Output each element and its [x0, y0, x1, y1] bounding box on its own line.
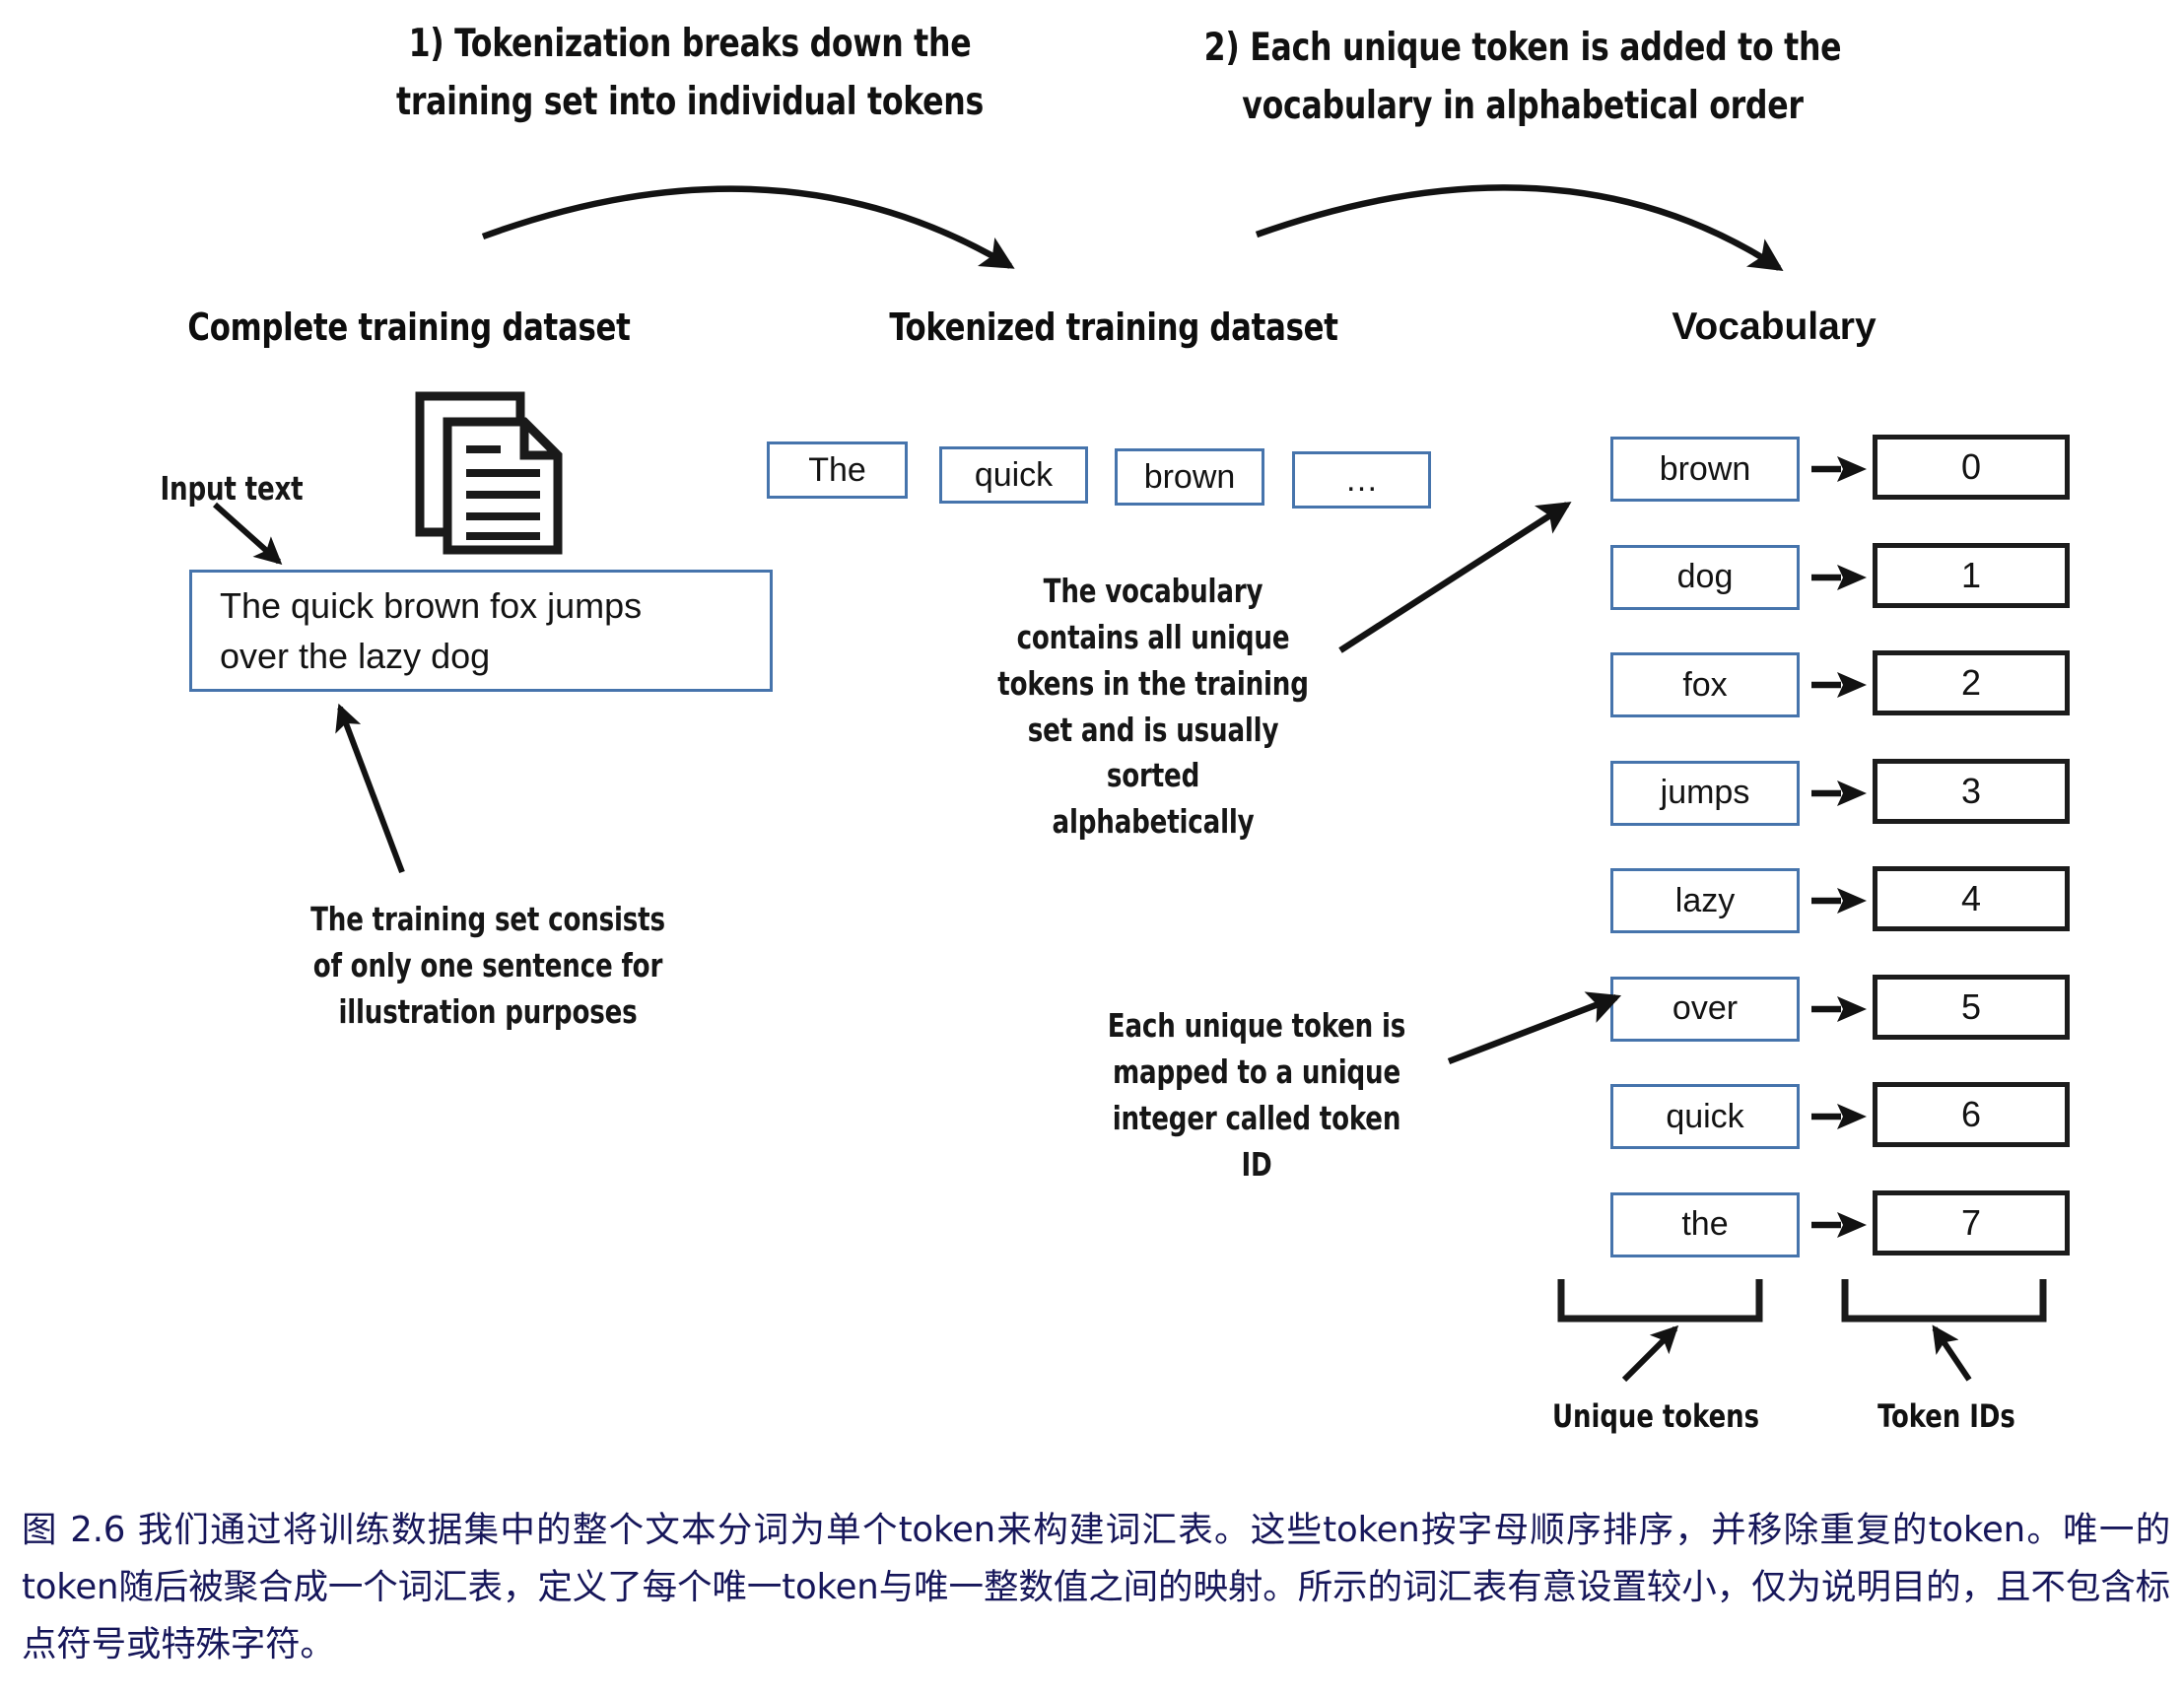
vocab-token-box: lazy	[1610, 868, 1800, 933]
token-to-id-arrow	[1808, 1099, 1867, 1134]
vocabulary-note: The vocabulary contains all unique token…	[976, 569, 1331, 846]
token-to-id-arrow	[1808, 776, 1867, 811]
token-id-box: 1	[1873, 543, 2070, 608]
token-to-id-arrow	[1808, 1207, 1867, 1243]
step-heading-1: 1) Tokenization breaks down the training…	[362, 16, 1018, 131]
section-heading-vocabulary: Vocabulary	[1547, 305, 2001, 349]
token-box-3: …	[1292, 451, 1431, 509]
token-label: quick	[975, 456, 1053, 495]
input-text-line-1: The quick brown fox jumps	[220, 580, 770, 631]
connector-overlay	[0, 0, 2184, 1697]
token-to-id-arrow	[1808, 667, 1867, 703]
token-id-box: 3	[1873, 759, 2070, 824]
vocab-token-box: fox	[1610, 652, 1800, 717]
token-id-note: Each unique token is mapped to a unique …	[1096, 1003, 1417, 1188]
token-id-label: 7	[1961, 1202, 1981, 1244]
token-id-box: 2	[1873, 650, 2070, 715]
vocab-token-box: dog	[1610, 545, 1800, 610]
vocab-token-label: over	[1672, 989, 1738, 1028]
section-heading-tokenized-training-dataset: Tokenized training dataset	[830, 305, 1398, 349]
token-label: …	[1345, 461, 1379, 500]
bracket-token-ids	[1845, 1279, 2043, 1319]
vocab-token-label: lazy	[1675, 882, 1735, 920]
arrow-to-unique-tokens-bracket	[1624, 1328, 1675, 1380]
token-id-label: 2	[1961, 662, 1981, 704]
token-id-label: 5	[1961, 986, 1981, 1028]
token-box-2: brown	[1115, 448, 1264, 506]
token-id-box: 5	[1873, 975, 2070, 1040]
token-box-1: quick	[939, 446, 1088, 504]
training-set-note: The training set consists of only one se…	[271, 897, 705, 1036]
vocab-token-label: quick	[1666, 1098, 1743, 1136]
vocab-token-box: jumps	[1610, 761, 1800, 826]
vocab-token-label: fox	[1682, 666, 1727, 705]
vocab-token-label: dog	[1677, 558, 1734, 596]
figure-caption: 图 2.6 我们通过将训练数据集中的整个文本分词为单个token来构建词汇表。这…	[22, 1502, 2170, 1673]
vocab-token-label: the	[1681, 1205, 1728, 1244]
token-to-id-arrow	[1808, 560, 1867, 595]
token-id-box: 7	[1873, 1190, 2070, 1256]
curved-arrow-tokenization	[483, 189, 1010, 266]
input-text-box: The quick brown fox jumps over the lazy …	[189, 570, 773, 692]
document-stack-icon	[414, 390, 572, 558]
arrow-vocab-note-to-brown	[1340, 505, 1567, 650]
token-ids-label: Token IDs	[1809, 1397, 2084, 1435]
section-heading-complete-training-dataset: Complete training dataset	[125, 305, 693, 349]
token-id-label: 6	[1961, 1094, 1981, 1135]
curved-arrow-vocabulary	[1257, 187, 1779, 268]
arrow-to-token-ids-bracket	[1935, 1328, 1969, 1380]
figure-root: 1) Tokenization breaks down the training…	[0, 0, 2184, 1697]
vocab-token-box: quick	[1610, 1084, 1800, 1149]
token-id-box: 6	[1873, 1082, 2070, 1147]
arrow-input-label-to-box	[215, 505, 279, 562]
token-to-id-arrow	[1808, 451, 1867, 487]
token-label: brown	[1144, 458, 1236, 497]
vocab-token-box: brown	[1610, 437, 1800, 502]
token-id-label: 0	[1961, 446, 1981, 488]
input-text-line-2: over the lazy dog	[220, 631, 770, 681]
bracket-unique-tokens	[1561, 1279, 1759, 1319]
vocab-token-label: brown	[1660, 450, 1751, 489]
token-id-label: 4	[1961, 878, 1981, 919]
arrow-note-to-input-box	[340, 708, 402, 872]
token-to-id-arrow	[1808, 991, 1867, 1027]
token-box-0: The	[767, 441, 908, 499]
token-to-id-arrow	[1808, 883, 1867, 918]
unique-tokens-label: Unique tokens	[1519, 1397, 1794, 1435]
token-id-box: 0	[1873, 435, 2070, 500]
input-text-label: Input text	[132, 466, 331, 512]
token-id-box: 4	[1873, 866, 2070, 931]
vocab-token-box: the	[1610, 1192, 1800, 1257]
vocab-token-label: jumps	[1661, 774, 1750, 812]
token-id-label: 3	[1961, 771, 1981, 812]
vocab-token-box: over	[1610, 977, 1800, 1042]
step-heading-2: 2) Each unique token is added to the voc…	[1194, 20, 1851, 135]
token-id-label: 1	[1961, 555, 1981, 596]
token-label: The	[808, 451, 866, 490]
arrow-tokenid-note-to-over	[1449, 997, 1616, 1061]
